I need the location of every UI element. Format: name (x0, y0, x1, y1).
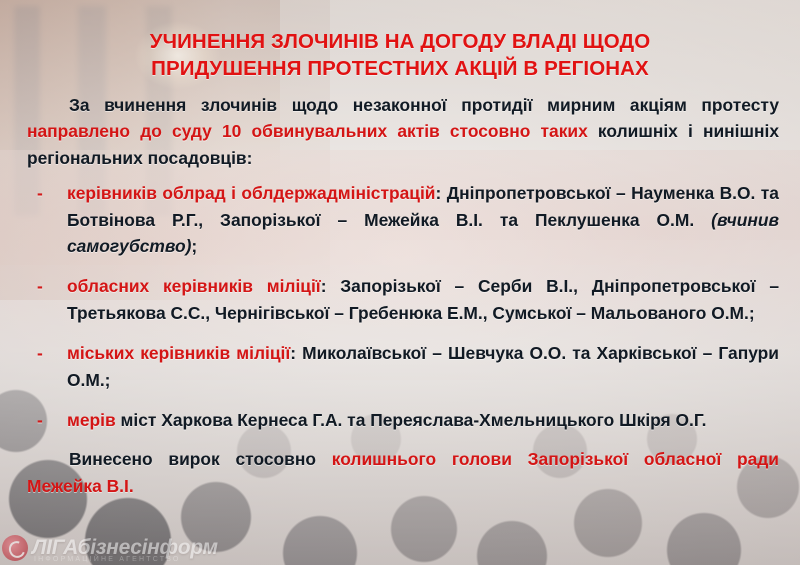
liga-logo-icon (2, 535, 28, 561)
page-title: УЧИНЕННЯ ЗЛОЧИНІВ НА ДОГОДУ ВЛАДІ ЩОДО П… (40, 28, 760, 82)
slide-canvas: УЧИНЕННЯ ЗЛОЧИНІВ НА ДОГОДУ ВЛАДІ ЩОДО П… (0, 0, 800, 565)
slide-body: За вчинення злочинів щодо незаконної про… (27, 92, 779, 499)
list-item: -керівників облрад і облдержадміністраці… (27, 180, 779, 259)
bullet-lead-label: міських керівників міліції (67, 343, 290, 363)
slide-content: УЧИНЕННЯ ЗЛОЧИНІВ НА ДОГОДУ ВЛАДІ ЩОДО П… (0, 0, 800, 565)
intro-paragraph: За вчинення злочинів щодо незаконної про… (27, 92, 779, 171)
title-line-1: УЧИНЕННЯ ЗЛОЧИНІВ НА ДОГОДУ ВЛАДІ ЩОДО (40, 28, 760, 55)
watermark-sublabel: ІНФОРМАЦІЙНЕ АГЕНТСТВО (34, 556, 181, 563)
bullet-lead-label: обласних керівників міліції (67, 276, 321, 296)
bullet-dash-icon: - (37, 407, 43, 433)
watermark: ЛІГАбізнесінформ ІНФОРМАЦІЙНЕ АГЕНТСТВО (2, 535, 218, 561)
verdict-text-part1: Винесено вирок стосовно (69, 449, 332, 469)
bullet-lead-label: мерів (67, 410, 116, 430)
bullet-dash-icon: - (37, 273, 43, 299)
offender-category-list: -керівників облрад і облдержадміністраці… (27, 180, 779, 433)
bullet-tail: ; (191, 236, 197, 256)
intro-text-highlight: направлено до суду 10 обвинувальних акті… (27, 121, 588, 141)
bullet-lead-label: керівників облрад і облдержадміністрацій (67, 183, 435, 203)
bullet-dash-icon: - (37, 180, 43, 206)
verdict-paragraph: Винесено вирок стосовно колишнього голов… (27, 446, 779, 499)
title-line-2: ПРИДУШЕННЯ ПРОТЕСТНИХ АКЦІЙ В РЕГІОНАХ (40, 55, 760, 82)
bullet-detail-text: міст Харкова Кернеса Г.А. та Переяслава-… (116, 410, 707, 430)
bullet-dash-icon: - (37, 340, 43, 366)
list-item: -міських керівників міліції: Миколаївськ… (27, 340, 779, 393)
intro-text-part1: За вчинення злочинів щодо незаконної про… (69, 95, 779, 115)
list-item: -мерів міст Харкова Кернеса Г.А. та Пере… (27, 407, 779, 433)
list-item: -обласних керівників міліції: Запорізько… (27, 273, 779, 326)
